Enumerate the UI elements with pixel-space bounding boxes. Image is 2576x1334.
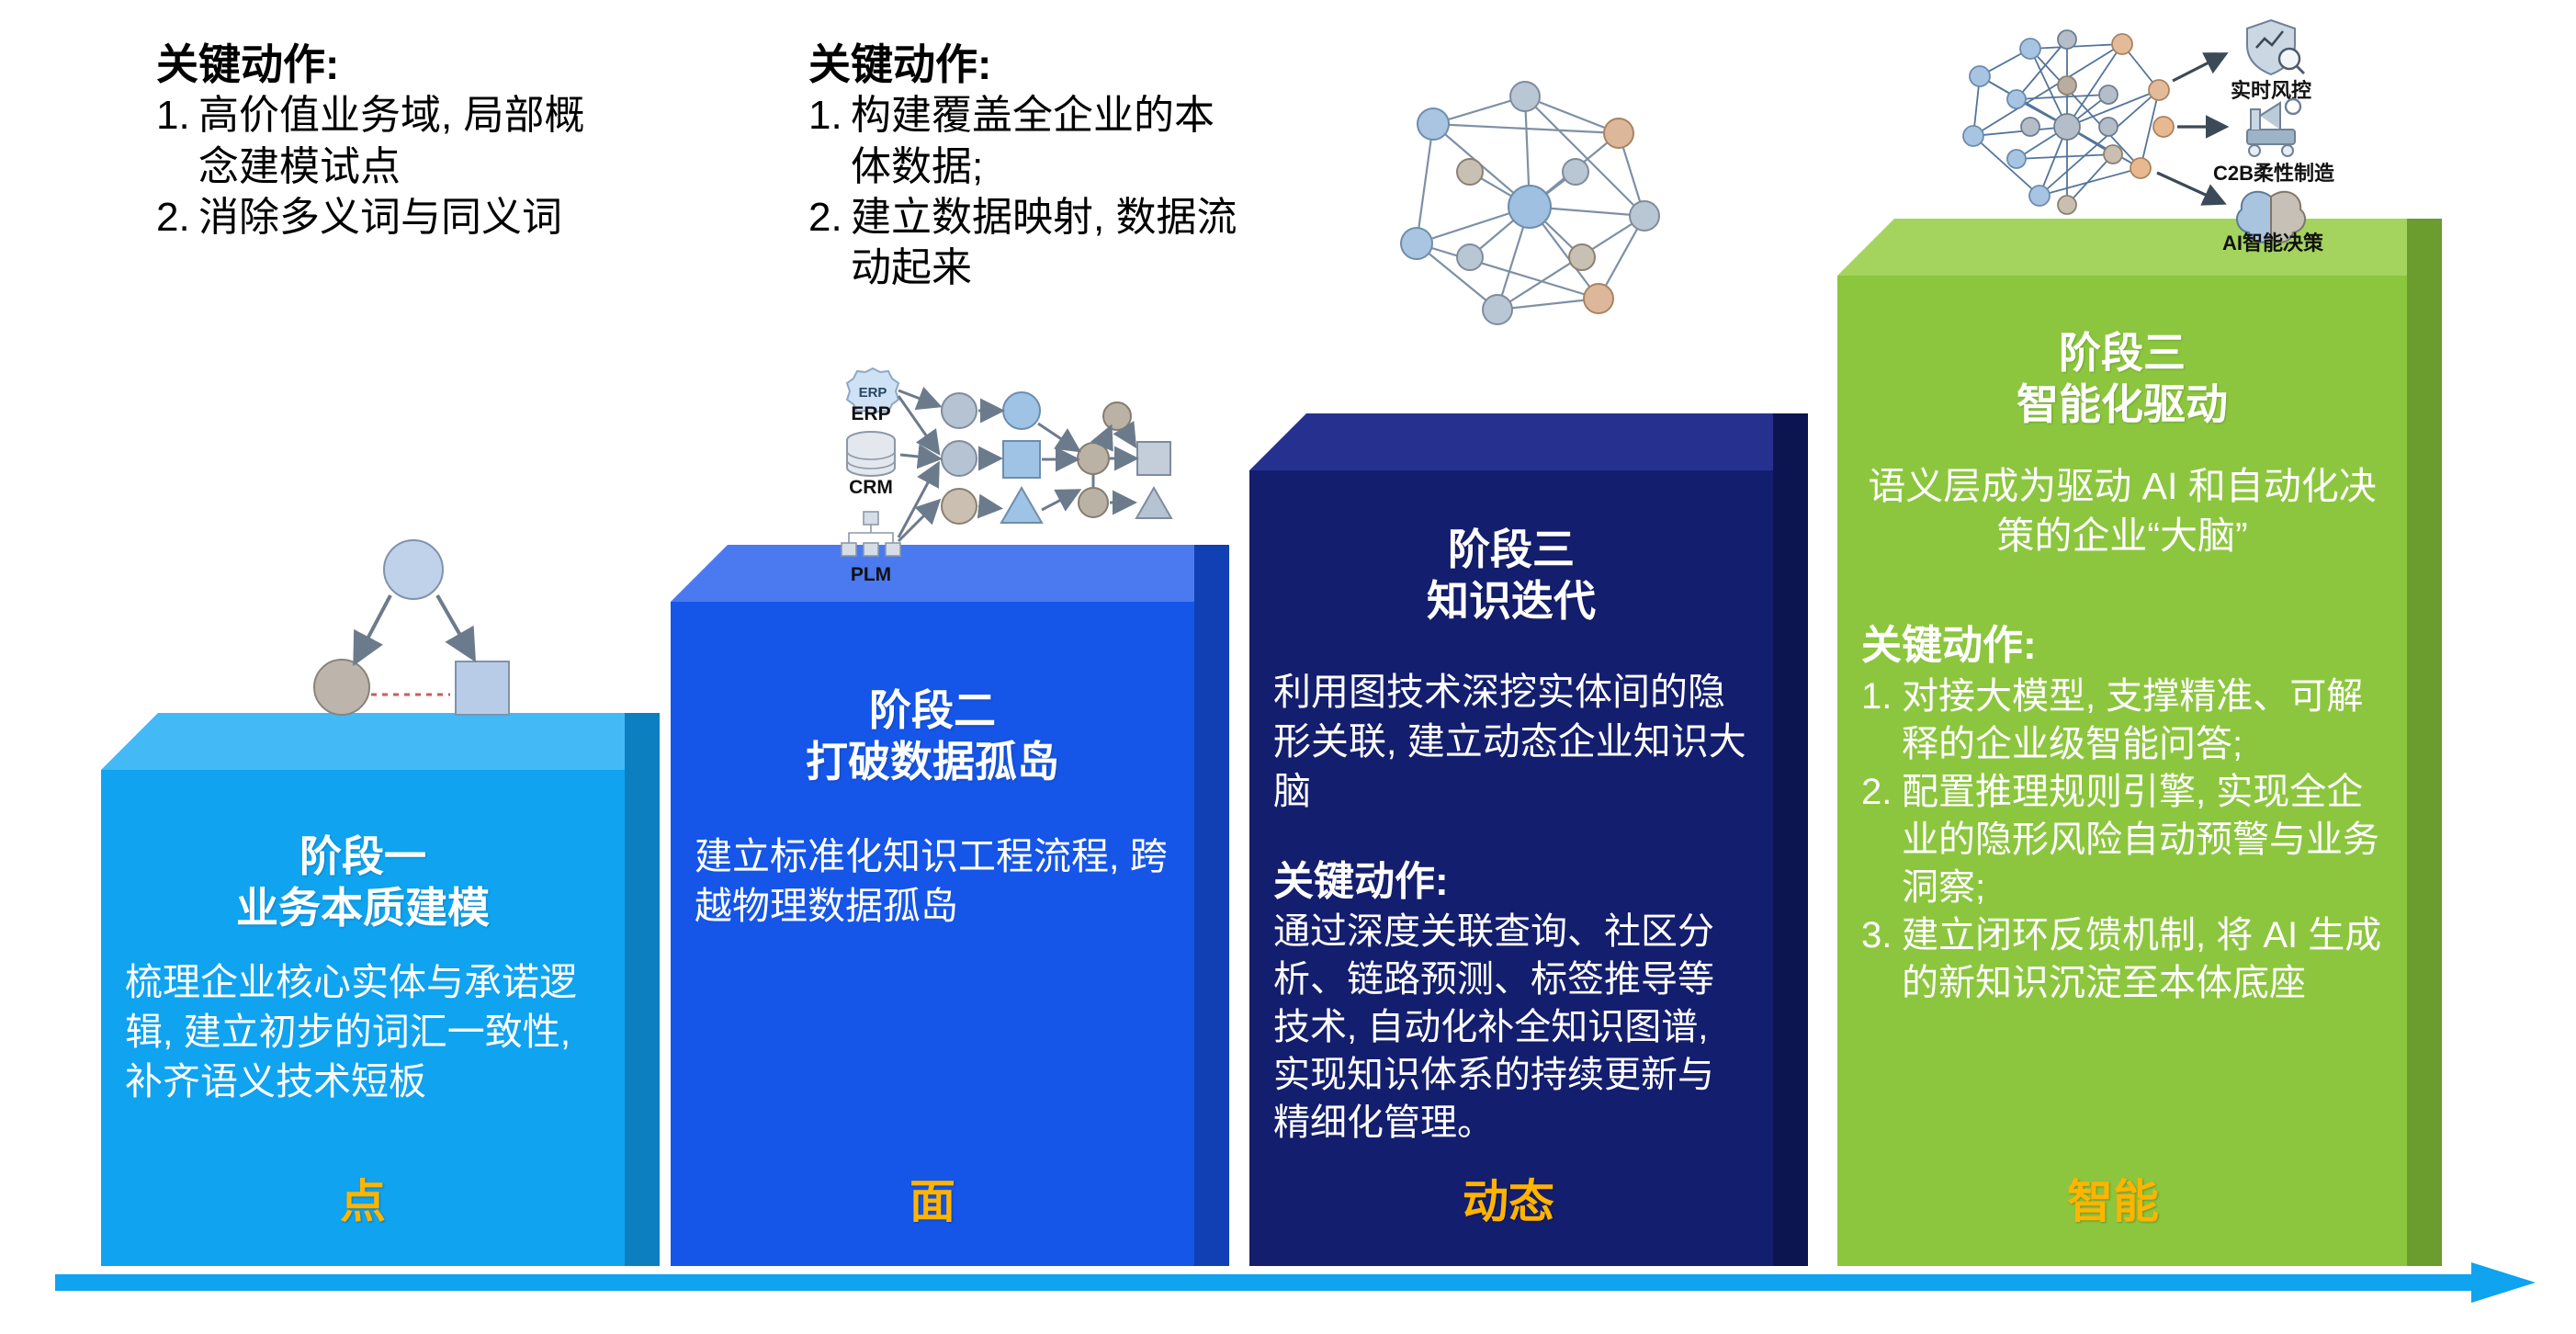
stage-3-title: 阶段三 知识迭代 <box>1273 524 1749 627</box>
stage-4-bar-side-face <box>2407 276 2442 1266</box>
stage-3-title-line1: 阶段三 <box>1273 524 1749 575</box>
note-stage1-heading: 关键动作: <box>156 39 588 90</box>
note-stage2-heading: 关键动作: <box>808 39 1249 90</box>
list-item-text: 建立闭环反馈机制, 将 AI 生成的新知识沉淀至本体底座 <box>1902 911 2383 1007</box>
list-item-number: 1. <box>808 90 851 141</box>
svg-text:PLM: PLM <box>851 564 891 585</box>
svg-text:ERP: ERP <box>851 403 890 424</box>
stage-3-key-list: 通过深度关联查询、社区分析、链路预测、标签推导等技术, 自动化补全知识图谱, 实… <box>1273 908 1749 1147</box>
note-stage2: 关键动作: 1. 构建覆盖全企业的本体数据; 2. 建立数据映射, 数据流动起来 <box>808 39 1249 294</box>
data-mapping-diagram: ERP ERP CRM PLM <box>818 363 1185 593</box>
stage-2-title: 阶段二 打破数据孤岛 <box>695 684 1170 787</box>
note-stage1-list: 1. 高价值业务域, 局部概念建模试点 2. 消除多义词与同义词 <box>156 90 588 243</box>
list-item-text: 对接大模型, 支撑精准、可解释的企业级智能问答; <box>1902 673 2383 768</box>
stage-1-description: 梳理企业核心实体与承诺逻辑, 建立初步的词汇一致性, 补齐语义技术短板 <box>125 957 601 1106</box>
stage-1-title-line1: 阶段一 <box>125 831 601 882</box>
stage-4-bar-top-corner <box>2407 219 2442 276</box>
list-item: 2. 配置推理规则引擎, 实现全企业的隐形风险自动预警与业务洞察; <box>1861 768 2383 911</box>
progression-arrow <box>55 1262 2536 1303</box>
stage-2-bar-top-corner <box>1194 545 1229 602</box>
stage-3-bar-top-face <box>1249 413 1773 470</box>
output-label-2: C2B柔性制造 <box>2213 162 2334 185</box>
list-item-number: 2. <box>1861 768 1902 816</box>
stage-4-bar[interactable]: 阶段三 智能化驱动 语义层成为驱动 AI 和自动化决策的企业“大脑” 关键动作:… <box>1837 276 2407 1266</box>
stage-3-content: 阶段三 知识迭代 利用图技术深挖实体间的隐形关联, 建立动态企业知识大脑 关键动… <box>1249 470 1773 1266</box>
stage-4-key-heading: 关键动作: <box>1861 619 2383 672</box>
stage-1-bar-top-corner <box>625 713 660 770</box>
stage-4-description: 语义层成为驱动 AI 和自动化决策的企业“大脑” <box>1861 461 2383 560</box>
list-item-text: 消除多义词与同义词 <box>198 192 588 243</box>
stage-3-bar-top-corner <box>1773 413 1808 470</box>
stage-2-title-line1: 阶段二 <box>695 684 1170 736</box>
stage-4-title-line1: 阶段三 <box>1861 327 2383 379</box>
stage-2-bar-side-face <box>1194 602 1229 1266</box>
stage-1-title-line2: 业务本质建模 <box>125 882 601 933</box>
list-item-text: 通过深度关联查询、社区分析、链路预测、标签推导等技术, 自动化补全知识图谱, 实… <box>1273 908 1749 1147</box>
list-item-text: 高价值业务域, 局部概念建模试点 <box>198 90 588 192</box>
list-item: 通过深度关联查询、社区分析、链路预测、标签推导等技术, 自动化补全知识图谱, 实… <box>1273 908 1749 1147</box>
concept-model-triangle-diagram <box>303 533 524 735</box>
stage-4-content: 阶段三 智能化驱动 语义层成为驱动 AI 和自动化决策的企业“大脑” 关键动作:… <box>1837 276 2407 1266</box>
stage-3-category-label: 动态 <box>1463 1165 1554 1231</box>
stage-3-bar-side-face <box>1773 470 1808 1266</box>
stage-2-category-label: 面 <box>910 1165 955 1231</box>
stage-4-category-label: 智能 <box>2067 1165 2159 1231</box>
list-item-number: 2. <box>808 192 851 243</box>
stage-2-description: 建立标准化知识工程流程, 跨越物理数据孤岛 <box>695 831 1170 931</box>
stage-1-bar-side-face <box>625 770 660 1266</box>
list-item-number: 1. <box>156 90 198 141</box>
stage-4-title-line2: 智能化驱动 <box>1861 379 2383 430</box>
output-label-3: AI智能决策 <box>2222 232 2324 254</box>
list-item-number: 3. <box>1861 911 1902 959</box>
stage-1-title: 阶段一 业务本质建模 <box>125 831 601 933</box>
stage-2-title-line2: 打破数据孤岛 <box>695 736 1170 787</box>
stage-3-key-heading: 关键动作: <box>1273 855 1749 908</box>
note-stage2-list: 1. 构建覆盖全企业的本体数据; 2. 建立数据映射, 数据流动起来 <box>808 90 1249 294</box>
list-item-number: 2. <box>156 192 198 243</box>
stage-4-key-list: 1. 对接大模型, 支撑精准、可解释的企业级智能问答; 2. 配置推理规则引擎,… <box>1861 673 2383 1007</box>
knowledge-brain-network-diagram <box>1378 69 1681 345</box>
stage-3-title-line2: 知识迭代 <box>1273 575 1749 627</box>
stage-1-category-label: 点 <box>340 1165 386 1231</box>
list-item-text: 配置推理规则引擎, 实现全企业的隐形风险自动预警与业务洞察; <box>1902 768 2383 911</box>
list-item-text: 建立数据映射, 数据流动起来 <box>851 192 1249 294</box>
list-item: 2. 消除多义词与同义词 <box>156 192 588 243</box>
stage-3-description: 利用图技术深挖实体间的隐形关联, 建立动态企业知识大脑 <box>1273 667 1749 816</box>
list-item-number: 1. <box>1861 673 1902 720</box>
list-item: 3. 建立闭环反馈机制, 将 AI 生成的新知识沉淀至本体底座 <box>1861 911 2383 1007</box>
list-item-text: 构建覆盖全企业的本体数据; <box>851 90 1249 192</box>
svg-text:CRM: CRM <box>849 477 893 498</box>
svg-text:ERP: ERP <box>859 385 887 401</box>
list-item: 1. 高价值业务域, 局部概念建模试点 <box>156 90 588 192</box>
list-item: 2. 建立数据映射, 数据流动起来 <box>808 192 1249 294</box>
list-item: 1. 构建覆盖全企业的本体数据; <box>808 90 1249 192</box>
stage-3-bar[interactable]: 阶段三 知识迭代 利用图技术深挖实体间的隐形关联, 建立动态企业知识大脑 关键动… <box>1249 470 1773 1266</box>
ai-decision-network-diagram: 实时风控 C2B柔性制造 AI智能决策 <box>1929 7 2407 254</box>
list-item: 1. 对接大模型, 支撑精准、可解释的企业级智能问答; <box>1861 673 2383 768</box>
output-label-1: 实时风控 <box>2231 79 2311 102</box>
note-stage1: 关键动作: 1. 高价值业务域, 局部概念建模试点 2. 消除多义词与同义词 <box>156 39 588 243</box>
stage-4-title: 阶段三 智能化驱动 <box>1861 327 2383 430</box>
